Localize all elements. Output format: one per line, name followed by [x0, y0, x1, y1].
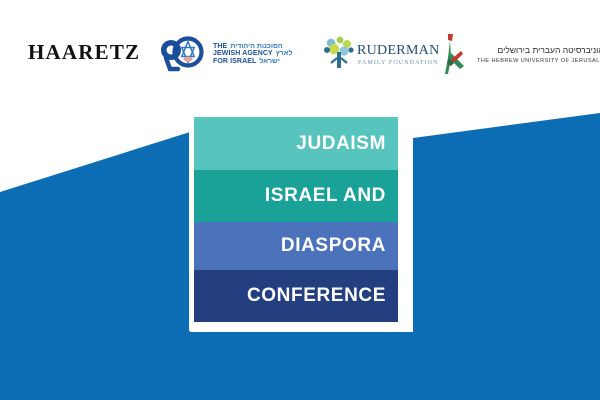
hebrew-university-name-en: THE HEBREW UNIVERSITY OF JERUSALEM — [477, 58, 600, 64]
hebrew-university-lockup-text: האוניברסיטה העברית בירושלים THE HEBREW U… — [477, 46, 600, 64]
hebrew-university-emblem-icon — [437, 32, 471, 78]
hebrew-university-logo: האוניברסיטה העברית בירושלים THE HEBREW U… — [437, 32, 600, 78]
partner-logo-strip: HAARETZ THE הסוכנות היהודית JEWISH AGENC… — [0, 0, 600, 100]
conference-title-bands: JUDAISM ISRAEL AND DIASPORA CONFERENCE — [194, 117, 398, 322]
ruderman-lockup-text: RUDERMAN FAMILY FOUNDATION — [357, 44, 440, 66]
jewish-agency-line-2-he: לארץ — [276, 50, 293, 57]
conference-banner: HAARETZ THE הסוכנות היהודית JEWISH AGENC… — [0, 0, 600, 400]
title-band-israel-and-label: ISRAEL AND — [265, 185, 386, 207]
jewish-agency-line-3-he: ישראל — [259, 58, 279, 65]
jewish-agency-90-icon — [157, 34, 209, 74]
jewish-agency-logo: THE הסוכנות היהודית JEWISH AGENCY לארץ F… — [157, 34, 292, 74]
title-band-conference-label: CONFERENCE — [247, 285, 386, 307]
jewish-agency-line-3-en: FOR ISRAEL — [213, 58, 256, 65]
title-band-conference: CONFERENCE — [194, 270, 398, 322]
jewish-agency-line-1-he: הסוכנות היהודית — [230, 43, 282, 50]
title-band-judaism: JUDAISM — [194, 117, 398, 170]
haaretz-logo: HAARETZ — [28, 40, 140, 65]
title-band-judaism-label: JUDAISM — [296, 133, 386, 155]
hebrew-university-name-he: האוניברסיטה העברית בירושלים — [477, 46, 600, 56]
jewish-agency-line-2: JEWISH AGENCY לארץ — [213, 50, 292, 57]
conference-title-card: JUDAISM ISRAEL AND DIASPORA CONFERENCE — [189, 112, 403, 331]
jewish-agency-line-2-en: JEWISH AGENCY — [213, 50, 273, 57]
title-band-diaspora-label: DIASPORA — [281, 235, 386, 257]
ruderman-subtitle: FAMILY FOUNDATION — [357, 60, 440, 66]
bottom-blue-fill — [0, 332, 600, 400]
title-band-diaspora: DIASPORA — [194, 222, 398, 270]
ruderman-tree-icon — [322, 34, 356, 76]
jewish-agency-line-3: FOR ISRAEL ישראל — [213, 58, 292, 65]
title-band-israel-and: ISRAEL AND — [194, 170, 398, 222]
ruderman-title: RUDERMAN — [357, 44, 440, 58]
ruderman-family-foundation-logo: RUDERMAN FAMILY FOUNDATION — [322, 34, 440, 76]
jewish-agency-line-1-en: THE — [213, 43, 227, 50]
jewish-agency-lockup-text: THE הסוכנות היהודית JEWISH AGENCY לארץ F… — [213, 43, 292, 65]
haaretz-wordmark: HAARETZ — [28, 40, 140, 65]
